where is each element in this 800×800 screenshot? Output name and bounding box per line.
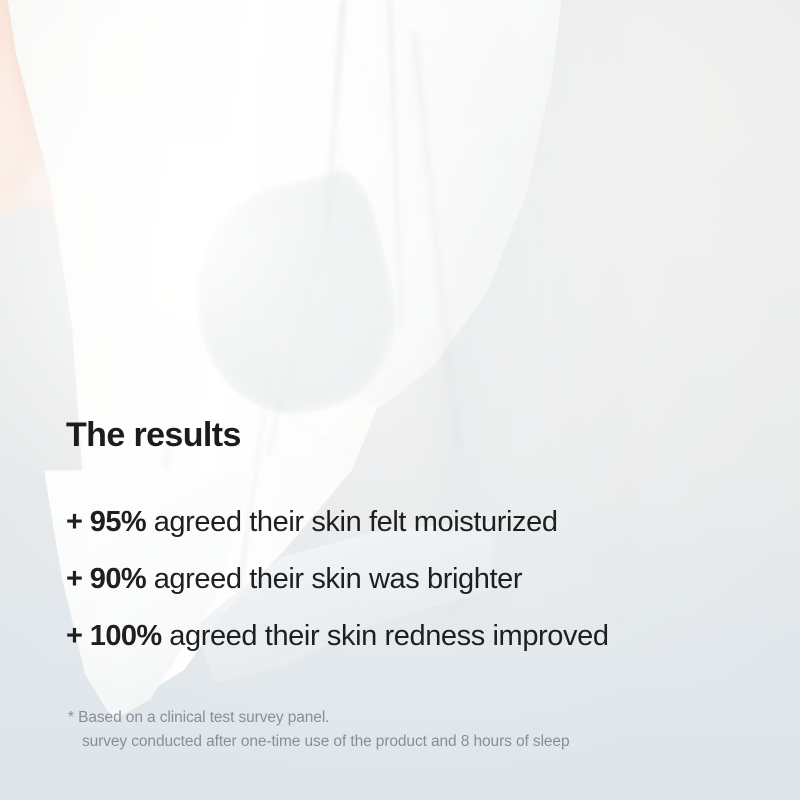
result-line: + 100% agreed their skin redness improve… xyxy=(66,608,766,665)
result-percent: + 100% xyxy=(66,620,162,652)
result-description: agreed their skin felt moisturized xyxy=(146,506,558,538)
copy-overlay: The results + 95% agreed their skin felt… xyxy=(0,0,800,800)
result-description: agreed their skin redness improved xyxy=(162,620,609,652)
result-percent: + 90% xyxy=(66,563,146,595)
footnote-line-2: survey conducted after one-time use of t… xyxy=(68,730,569,754)
marketing-image-canvas: The results + 95% agreed their skin felt… xyxy=(0,0,800,800)
results-heading: The results xyxy=(66,418,241,452)
result-line: + 95% agreed their skin felt moisturized xyxy=(66,494,766,551)
footnote: * Based on a clinical test survey panel.… xyxy=(68,706,569,754)
result-line: + 90% agreed their skin was brighter xyxy=(66,551,766,608)
results-list: + 95% agreed their skin felt moisturized… xyxy=(66,494,766,665)
result-percent: + 95% xyxy=(66,506,146,538)
footnote-line-1: * Based on a clinical test survey panel. xyxy=(68,706,569,730)
result-description: agreed their skin was brighter xyxy=(146,563,522,595)
